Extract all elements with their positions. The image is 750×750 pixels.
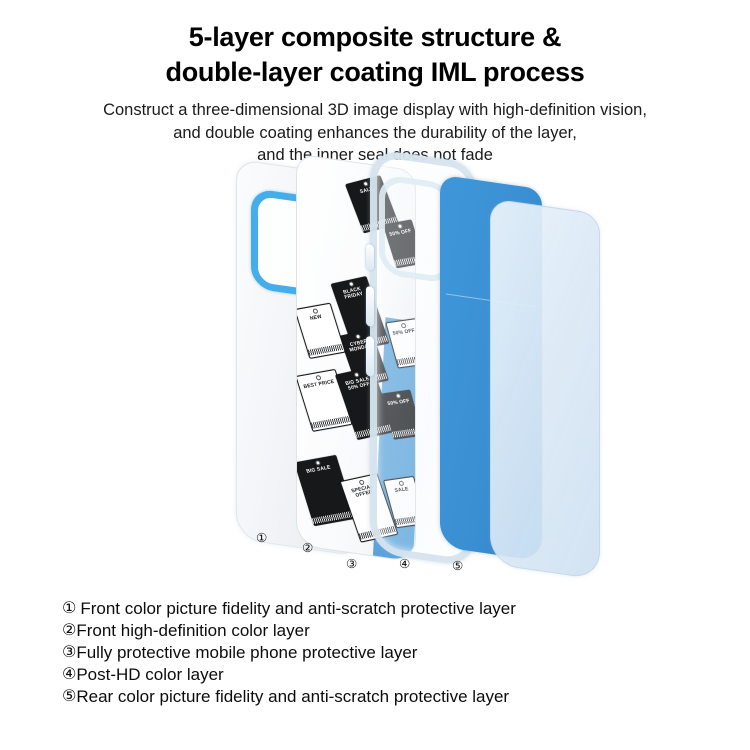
- legend-item-number: ④: [62, 664, 76, 686]
- header: 5-layer composite structure & double-lay…: [0, 0, 750, 167]
- layer-5-rear-protective-sheet: [490, 198, 600, 580]
- sale-tag: NEW: [296, 303, 346, 359]
- layer-marker-front-protective-sheet: ①: [256, 532, 267, 545]
- legend-item-label: Rear color picture fidelity and anti-scr…: [76, 686, 509, 708]
- button-cutout: [366, 286, 374, 327]
- legend-item: ③Fully protective mobile phone protectiv…: [62, 642, 722, 664]
- legend-item-number: ③: [62, 642, 76, 664]
- legend-item-number: ②: [62, 620, 76, 642]
- page-title: 5-layer composite structure & double-lay…: [0, 0, 750, 90]
- legend-item: ①Front color picture fidelity and anti-s…: [62, 598, 722, 620]
- layer-marker-rear-protective-sheet: ⑤: [452, 560, 463, 573]
- layer-marker-front-hd-color-layer: ②: [302, 542, 313, 555]
- layer-legend: ①Front color picture fidelity and anti-s…: [62, 598, 722, 708]
- button-cutout: [366, 244, 374, 271]
- legend-item-label: Front high-definition color layer: [76, 620, 309, 642]
- legend-item-label: Front color picture fidelity and anti-sc…: [76, 598, 516, 620]
- layer-marker-clear-tpu-case: ③: [346, 558, 357, 571]
- title-line-1: 5-layer composite structure &: [0, 20, 750, 55]
- tag-barcode: [311, 511, 355, 525]
- title-line-2: double-layer coating IML process: [0, 55, 750, 90]
- layer-marker-post-hd-color-layer: ④: [399, 558, 410, 571]
- legend-item: ②Front high-definition color layer: [62, 620, 722, 642]
- legend-item: ④Post-HD color layer: [62, 664, 722, 686]
- subtitle-line-2: and double coating enhances the durabili…: [0, 122, 750, 144]
- legend-item-number: ①: [62, 598, 76, 620]
- subtitle-line-1: Construct a three-dimensional 3D image d…: [0, 99, 750, 121]
- exploded-layer-diagram: SALE50% OFFBLACK FRIDAYCYBER MONDAYNEW50…: [0, 160, 750, 590]
- tag-barcode: [308, 344, 344, 356]
- legend-item-number: ⑤: [62, 686, 76, 708]
- tag-barcode: [311, 416, 351, 429]
- button-cutout: [366, 336, 374, 377]
- legend-item: ⑤Rear color picture fidelity and anti-sc…: [62, 686, 722, 708]
- legend-item-label: Post-HD color layer: [76, 664, 223, 686]
- legend-item-label: Fully protective mobile phone protective…: [76, 642, 417, 664]
